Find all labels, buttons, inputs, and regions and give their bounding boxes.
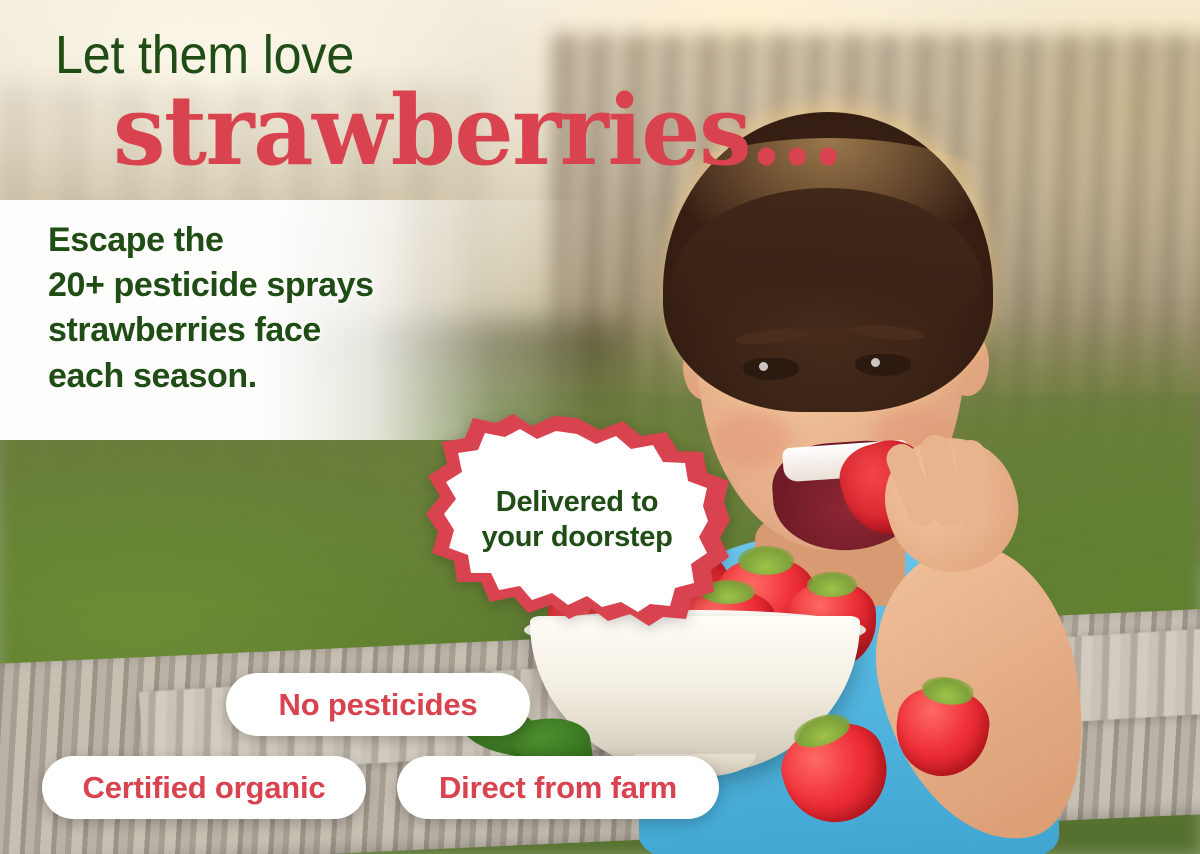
headline: Let them love strawberries... bbox=[55, 28, 955, 177]
child-eye-left bbox=[743, 358, 799, 380]
child-finger bbox=[955, 439, 990, 530]
starburst-text: Delivered to your doorstep bbox=[424, 414, 730, 626]
badge-direct-from-farm[interactable]: Direct from farm bbox=[397, 756, 719, 819]
starburst-line-2: your doorstep bbox=[481, 520, 672, 555]
badge-no-pesticides[interactable]: No pesticides bbox=[226, 673, 530, 736]
delivery-starburst-badge: Delivered to your doorstep bbox=[424, 414, 730, 626]
body-copy: Escape the 20+ pesticide sprays strawber… bbox=[48, 218, 518, 399]
body-copy-line: Escape the bbox=[48, 218, 518, 263]
body-copy-line: each season. bbox=[48, 354, 518, 399]
child-eye-right bbox=[855, 354, 911, 376]
body-copy-line: 20+ pesticide sprays bbox=[48, 263, 518, 308]
body-copy-line: strawberries face bbox=[48, 308, 518, 353]
promo-banner: Let them love strawberries... Escape the… bbox=[0, 0, 1200, 854]
starburst-line-1: Delivered to bbox=[496, 485, 658, 520]
badge-certified-organic[interactable]: Certified organic bbox=[42, 756, 366, 819]
headline-line-2: strawberries... bbox=[113, 85, 930, 177]
